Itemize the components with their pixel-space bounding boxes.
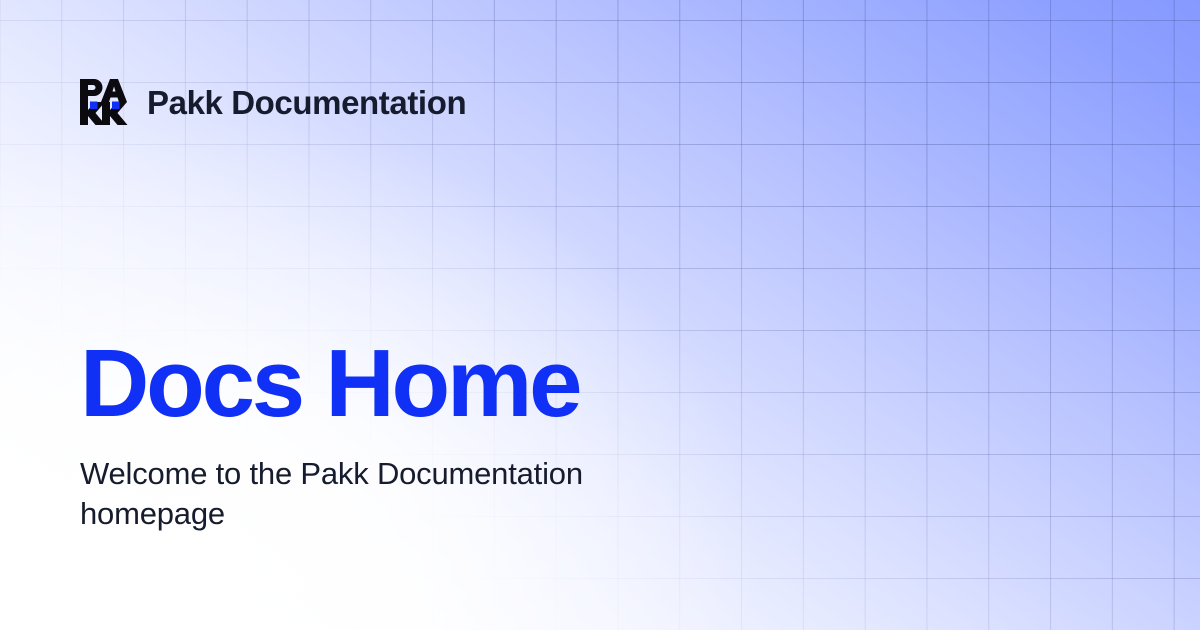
brand-header: Pakk Documentation — [79, 78, 466, 126]
page-subtitle: Welcome to the Pakk Documentation homepa… — [80, 454, 720, 535]
logo-accent-square-left — [90, 102, 98, 110]
logo-accent-square-right — [112, 102, 120, 110]
page-title: Docs Home — [80, 336, 780, 432]
brand-title: Pakk Documentation — [147, 86, 466, 119]
og-banner-card: Pakk Documentation Docs Home Welcome to … — [0, 0, 1200, 630]
main-content: Docs Home Welcome to the Pakk Documentat… — [80, 336, 780, 535]
pakk-logo-icon — [79, 78, 129, 126]
